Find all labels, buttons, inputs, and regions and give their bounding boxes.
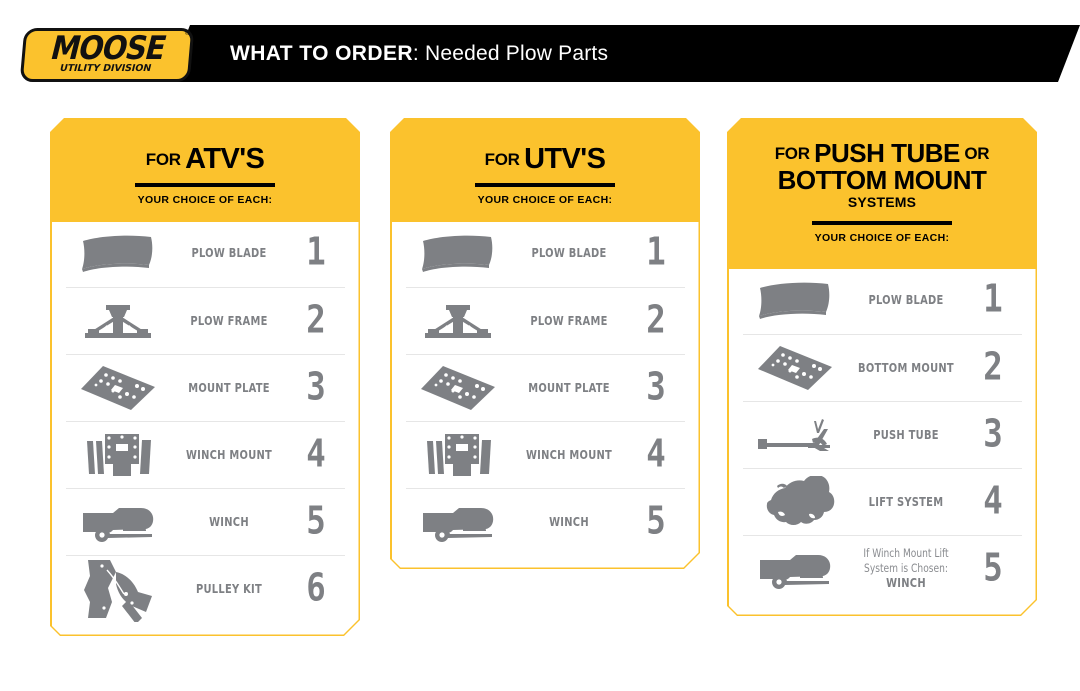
mount-plate-icon	[79, 363, 157, 413]
table-row[interactable]: PLOW BLADE1	[406, 220, 685, 287]
row-number: 1	[289, 234, 341, 272]
card-title-line3: SYSTEMS	[848, 194, 916, 210]
card-title-divider	[812, 221, 952, 225]
row-number: 5	[966, 549, 1018, 587]
card-title-main: ATV'S	[185, 143, 264, 175]
row-icon-cell	[66, 431, 171, 479]
row-icon-cell	[743, 279, 848, 321]
row-label-text: WINCH	[549, 514, 589, 529]
card-title: FOR PUSH TUBE ORBOTTOM MOUNTSYSTEMS	[727, 140, 1037, 211]
card-title: FOR UTV'S	[390, 144, 700, 174]
card-body: PLOW BLADE1PLOW FRAME2MOUNT PLATE3WINCH …	[390, 218, 700, 569]
row-icon-cell	[743, 476, 848, 528]
row-label: MOUNT PLATE	[177, 380, 279, 396]
table-row[interactable]: LIFT SYSTEM4	[743, 468, 1022, 535]
table-row[interactable]: PLOW FRAME2	[66, 287, 345, 354]
row-icon-cell	[406, 301, 511, 341]
card-title-prefix: FOR	[485, 150, 520, 169]
row-label-text: PULLEY KIT	[195, 581, 261, 596]
row-number: 6	[289, 569, 341, 607]
row-label-text: WINCH	[886, 575, 926, 590]
row-label-text: WINCH	[209, 514, 249, 529]
cards-container: PLOW BLADE1PLOW FRAME2MOUNT PLATE3WINCH …	[0, 0, 1080, 691]
row-label-text: WINCH MOUNT	[525, 447, 611, 462]
row-icon-cell	[743, 343, 848, 393]
row-icon-cell	[406, 431, 511, 479]
row-number: 3	[289, 368, 341, 406]
plow-frame-icon	[421, 301, 495, 341]
table-row[interactable]: MOUNT PLATE3	[406, 354, 685, 421]
row-label-text: PUSH TUBE	[873, 427, 939, 442]
card-title-main: UTV'S	[524, 143, 605, 175]
table-row[interactable]: WINCH5	[406, 488, 685, 555]
plow-blade-icon	[419, 232, 497, 274]
row-label: BOTTOM MOUNT	[854, 360, 956, 376]
row-label: PUSH TUBE	[854, 427, 956, 443]
card-title-prefix: FOR	[146, 150, 181, 169]
row-number: 5	[629, 502, 681, 540]
row-label: MOUNT PLATE	[517, 380, 619, 396]
card-rows-list: PLOW BLADE1BOTTOM MOUNT2PUSH TUBE3LIFT S…	[729, 267, 1036, 615]
row-icon-cell	[66, 301, 171, 341]
row-icon-cell	[66, 363, 171, 413]
row-number: 3	[966, 415, 1018, 453]
card-title-or: OR	[964, 144, 989, 163]
winch-mount-icon	[419, 431, 497, 479]
card-title-divider	[475, 183, 615, 187]
row-number: 4	[966, 482, 1018, 520]
row-label-text: WINCH MOUNT	[185, 447, 271, 462]
table-row[interactable]: WINCH MOUNT4	[406, 421, 685, 488]
card-subtitle: YOUR CHOICE OF EACH:	[727, 232, 1037, 244]
row-label-text: PLOW FRAME	[190, 313, 267, 328]
table-row[interactable]: WINCH5	[66, 488, 345, 555]
row-number: 5	[289, 502, 341, 540]
card-title-line2: BOTTOM MOUNT	[778, 165, 987, 195]
row-number: 1	[629, 234, 681, 272]
card-body: PLOW BLADE1BOTTOM MOUNT2PUSH TUBE3LIFT S…	[727, 265, 1037, 616]
row-label: WINCH MOUNT	[177, 447, 279, 463]
row-number: 1	[966, 281, 1018, 319]
row-label-text: LIFT SYSTEM	[868, 494, 943, 509]
card-subtitle: YOUR CHOICE OF EACH:	[50, 194, 360, 206]
row-label: LIFT SYSTEM	[854, 494, 956, 510]
part-card-3: PLOW BLADE1BOTTOM MOUNT2PUSH TUBE3LIFT S…	[727, 118, 1037, 616]
row-number: 2	[966, 348, 1018, 386]
card-header: FOR ATV'SYOUR CHOICE OF EACH:	[50, 118, 360, 222]
row-label: WINCH	[517, 514, 619, 530]
row-label: PULLEY KIT	[177, 581, 279, 597]
row-label-text: PLOW BLADE	[868, 292, 943, 307]
row-number: 3	[629, 368, 681, 406]
winch-icon	[756, 546, 834, 592]
row-label: PLOW BLADE	[854, 292, 956, 308]
card-header: FOR UTV'SYOUR CHOICE OF EACH:	[390, 118, 700, 222]
row-icon-cell	[66, 556, 171, 622]
row-icon-cell	[66, 232, 171, 274]
plow-frame-icon	[81, 301, 155, 341]
table-row[interactable]: If Winch Mount Lift System is Chosen:WIN…	[743, 535, 1022, 602]
row-icon-cell	[406, 499, 511, 545]
card-rows-list: PLOW BLADE1PLOW FRAME2MOUNT PLATE3WINCH …	[52, 220, 359, 635]
row-number: 2	[289, 301, 341, 339]
winch-icon	[419, 499, 497, 545]
row-label: WINCH	[177, 514, 279, 530]
part-card-2: PLOW BLADE1PLOW FRAME2MOUNT PLATE3WINCH …	[390, 118, 700, 569]
row-label-note: If Winch Mount Lift System is Chosen:	[854, 546, 956, 575]
mount-plate-icon	[419, 363, 497, 413]
row-icon-cell	[406, 232, 511, 274]
atv-icon	[755, 476, 835, 528]
card-title: FOR ATV'S	[50, 144, 360, 174]
row-icon-cell	[406, 363, 511, 413]
pulley-kit-icon	[80, 556, 156, 622]
card-title-divider	[135, 183, 275, 187]
card-body: PLOW BLADE1PLOW FRAME2MOUNT PLATE3WINCH …	[50, 218, 360, 636]
table-row[interactable]: BOTTOM MOUNT2	[743, 334, 1022, 401]
row-icon-cell	[743, 546, 848, 592]
winch-icon	[79, 499, 157, 545]
row-number: 4	[629, 435, 681, 473]
row-label-text: BOTTOM MOUNT	[858, 360, 954, 375]
plow-blade-icon	[79, 232, 157, 274]
row-label: If Winch Mount Lift System is Chosen:WIN…	[854, 546, 956, 590]
table-row[interactable]: WINCH MOUNT4	[66, 421, 345, 488]
table-row[interactable]: PLOW BLADE1	[66, 220, 345, 287]
card-title-main: PUSH TUBE	[814, 138, 960, 168]
card-title-prefix: FOR	[775, 144, 810, 163]
part-card-1: PLOW BLADE1PLOW FRAME2MOUNT PLATE3WINCH …	[50, 118, 360, 636]
table-row[interactable]: PLOW BLADE1	[743, 267, 1022, 334]
row-label-text: PLOW BLADE	[531, 245, 606, 260]
row-number: 2	[629, 301, 681, 339]
table-row[interactable]: MOUNT PLATE3	[66, 354, 345, 421]
row-label: PLOW BLADE	[517, 245, 619, 261]
row-label-text: MOUNT PLATE	[188, 380, 270, 395]
row-label: PLOW FRAME	[177, 313, 279, 329]
row-icon-cell	[743, 415, 848, 455]
row-number: 4	[289, 435, 341, 473]
winch-mount-icon	[79, 431, 157, 479]
row-label: PLOW FRAME	[517, 313, 619, 329]
table-row[interactable]: PLOW FRAME2	[406, 287, 685, 354]
row-label: WINCH MOUNT	[517, 447, 619, 463]
table-row[interactable]: PULLEY KIT6	[66, 555, 345, 622]
row-label-text: MOUNT PLATE	[528, 380, 610, 395]
mount-plate-icon	[756, 343, 834, 393]
plow-blade-icon	[756, 279, 834, 321]
card-subtitle: YOUR CHOICE OF EACH:	[390, 194, 700, 206]
card-rows-list: PLOW BLADE1PLOW FRAME2MOUNT PLATE3WINCH …	[392, 220, 699, 568]
row-label-text: PLOW FRAME	[530, 313, 607, 328]
row-label-text: PLOW BLADE	[191, 245, 266, 260]
card-header: FOR PUSH TUBE ORBOTTOM MOUNTSYSTEMSYOUR …	[727, 118, 1037, 269]
row-label: PLOW BLADE	[177, 245, 279, 261]
push-tube-icon	[756, 415, 834, 455]
row-icon-cell	[66, 499, 171, 545]
table-row[interactable]: PUSH TUBE3	[743, 401, 1022, 468]
